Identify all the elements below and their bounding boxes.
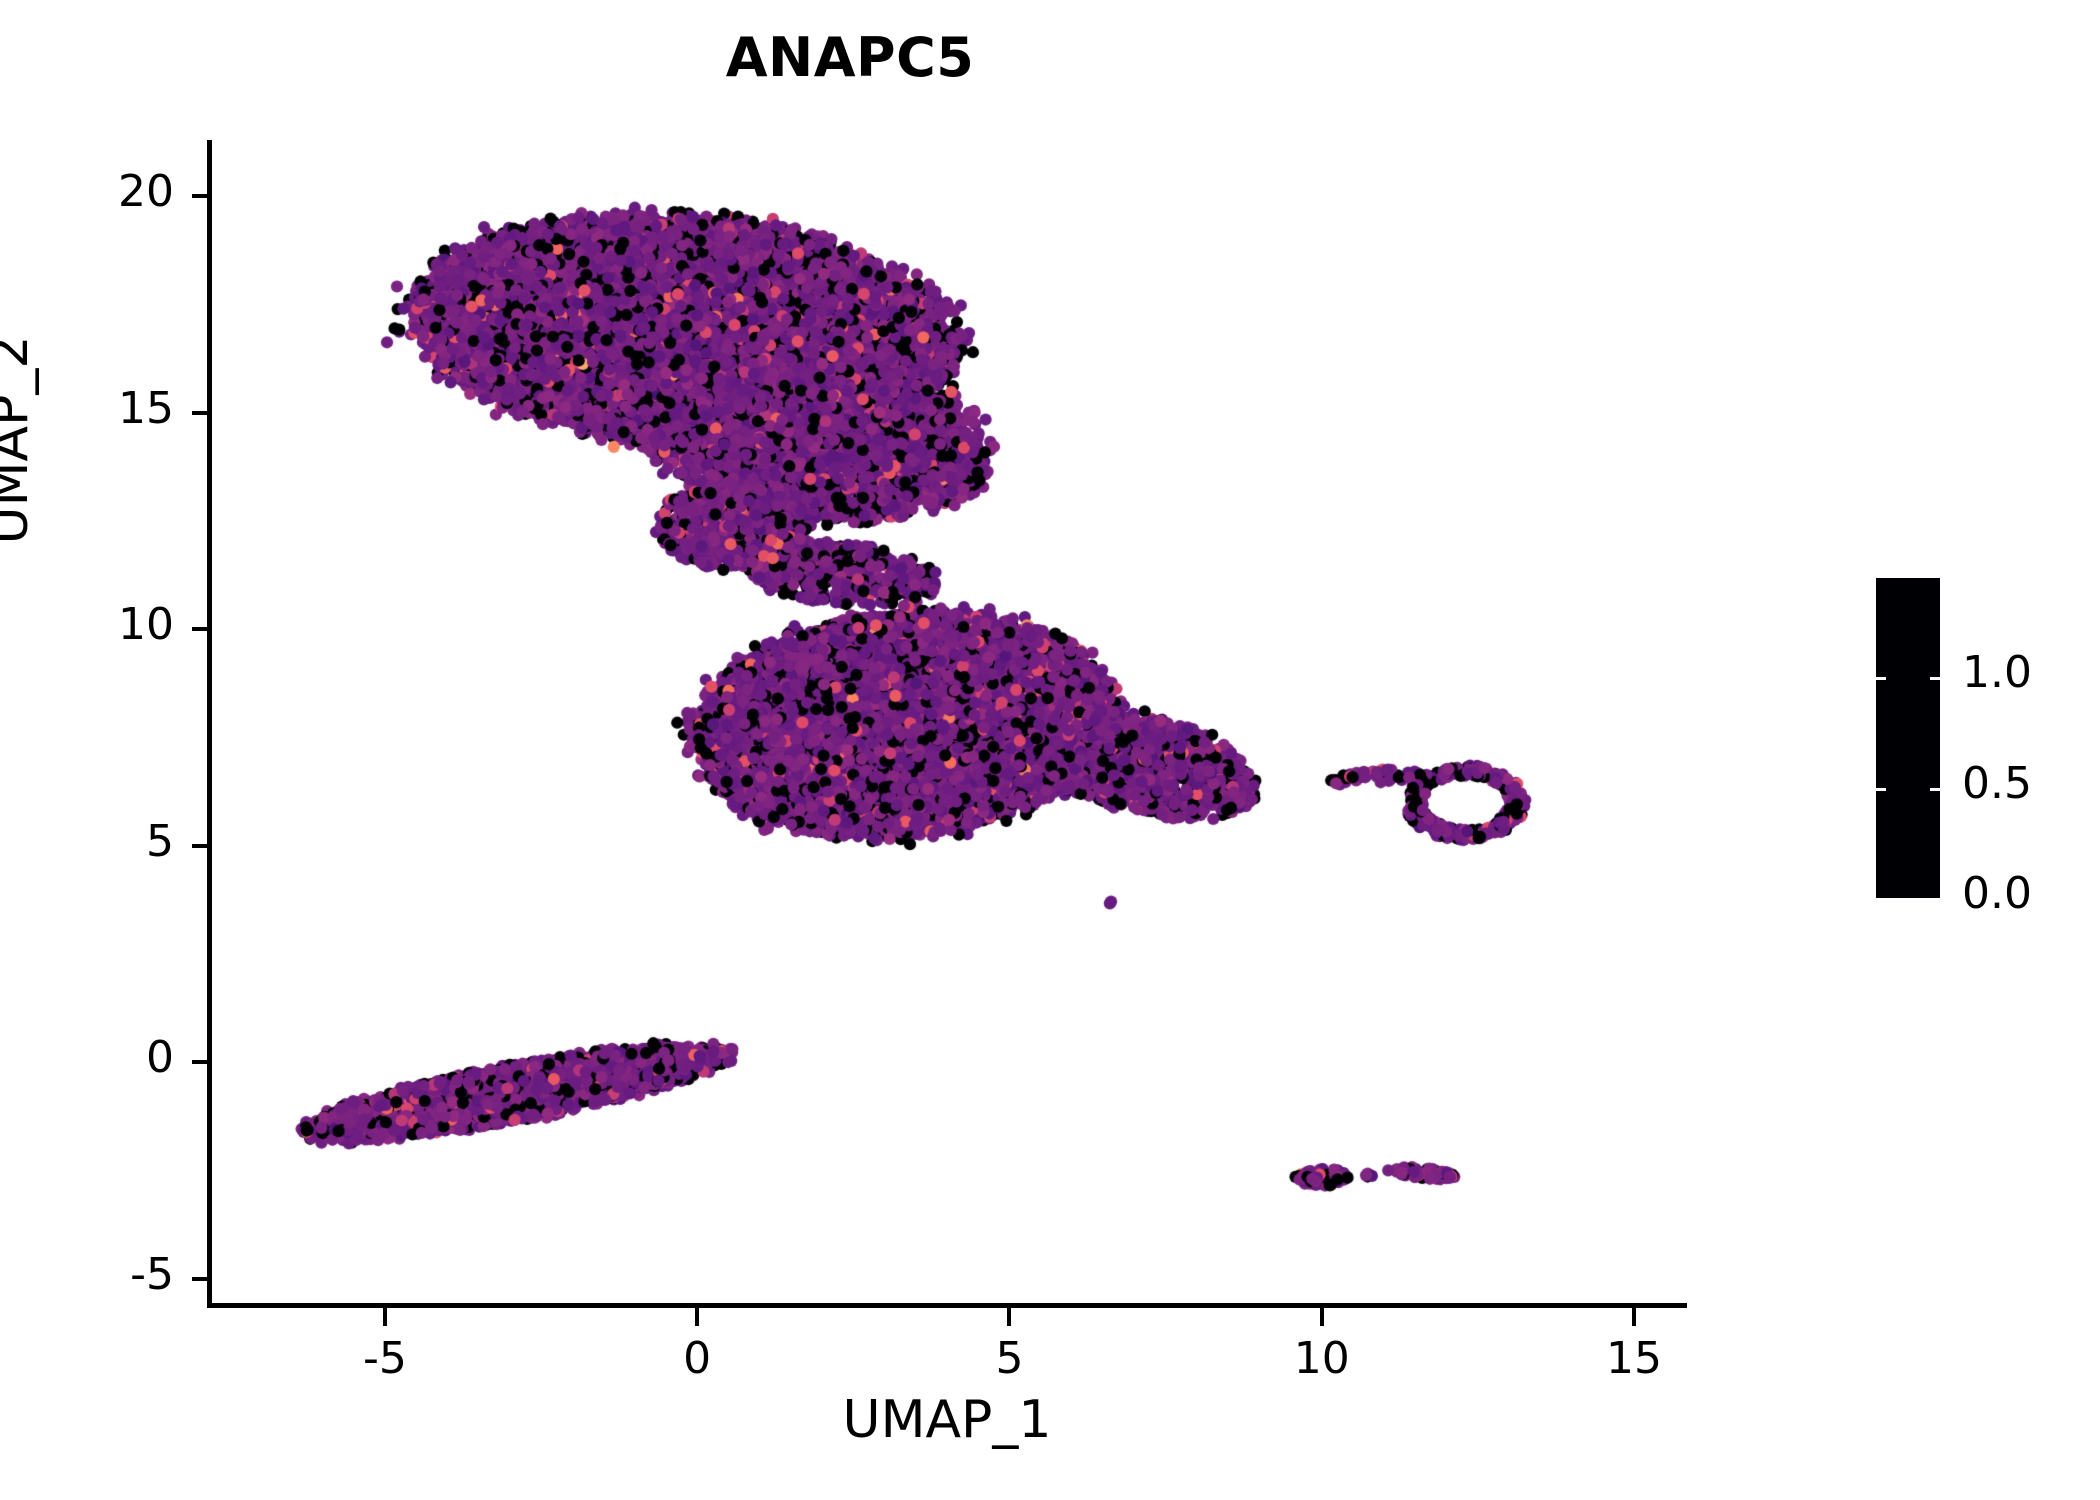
figure-canvas: ANAPC5 -505101520 -5051015 UMAP_2 UMAP_1… xyxy=(0,0,2100,1500)
y-axis-label: UMAP_2 xyxy=(0,240,40,640)
x-tick-label: 10 xyxy=(1222,1333,1422,1384)
x-tick-mark xyxy=(383,1308,387,1326)
colorbar-tick-label: 0.5 xyxy=(1962,758,2032,809)
y-tick-label: 0 xyxy=(0,1032,174,1083)
colorbar xyxy=(1876,578,1940,898)
colorbar-tick-mark xyxy=(1876,898,1886,901)
y-tick-mark xyxy=(192,194,210,198)
x-tick-label: 15 xyxy=(1534,1333,1734,1384)
x-tick-label: 5 xyxy=(909,1333,1109,1384)
scatter-plot xyxy=(210,140,1684,1305)
colorbar-tick-mark xyxy=(1930,677,1940,680)
x-axis-label: UMAP_1 xyxy=(210,1390,1684,1450)
page-title: ANAPC5 xyxy=(0,26,1700,89)
x-tick-mark xyxy=(1007,1308,1011,1326)
y-tick-mark xyxy=(192,411,210,415)
x-tick-mark xyxy=(695,1308,699,1326)
y-tick-mark xyxy=(192,1277,210,1281)
colorbar-tick-mark xyxy=(1930,898,1940,901)
y-tick-label: 20 xyxy=(0,166,174,217)
colorbar-tick-mark xyxy=(1876,677,1886,680)
x-tick-mark xyxy=(1320,1308,1324,1326)
y-tick-label: -5 xyxy=(0,1249,174,1300)
y-tick-mark xyxy=(192,844,210,848)
colorbar-tick-label: 0.0 xyxy=(1962,868,2032,919)
y-tick-mark xyxy=(192,1060,210,1064)
colorbar-tick-label: 1.0 xyxy=(1962,647,2032,698)
x-tick-mark xyxy=(1632,1308,1636,1326)
x-tick-label: 0 xyxy=(597,1333,797,1384)
colorbar-tick-mark xyxy=(1930,788,1940,791)
x-tick-label: -5 xyxy=(285,1333,485,1384)
y-tick-label: 5 xyxy=(0,816,174,867)
plot-area xyxy=(210,140,1684,1305)
colorbar-tick-mark xyxy=(1876,788,1886,791)
y-tick-mark xyxy=(192,627,210,631)
colorbar-gradient xyxy=(1876,578,1940,898)
